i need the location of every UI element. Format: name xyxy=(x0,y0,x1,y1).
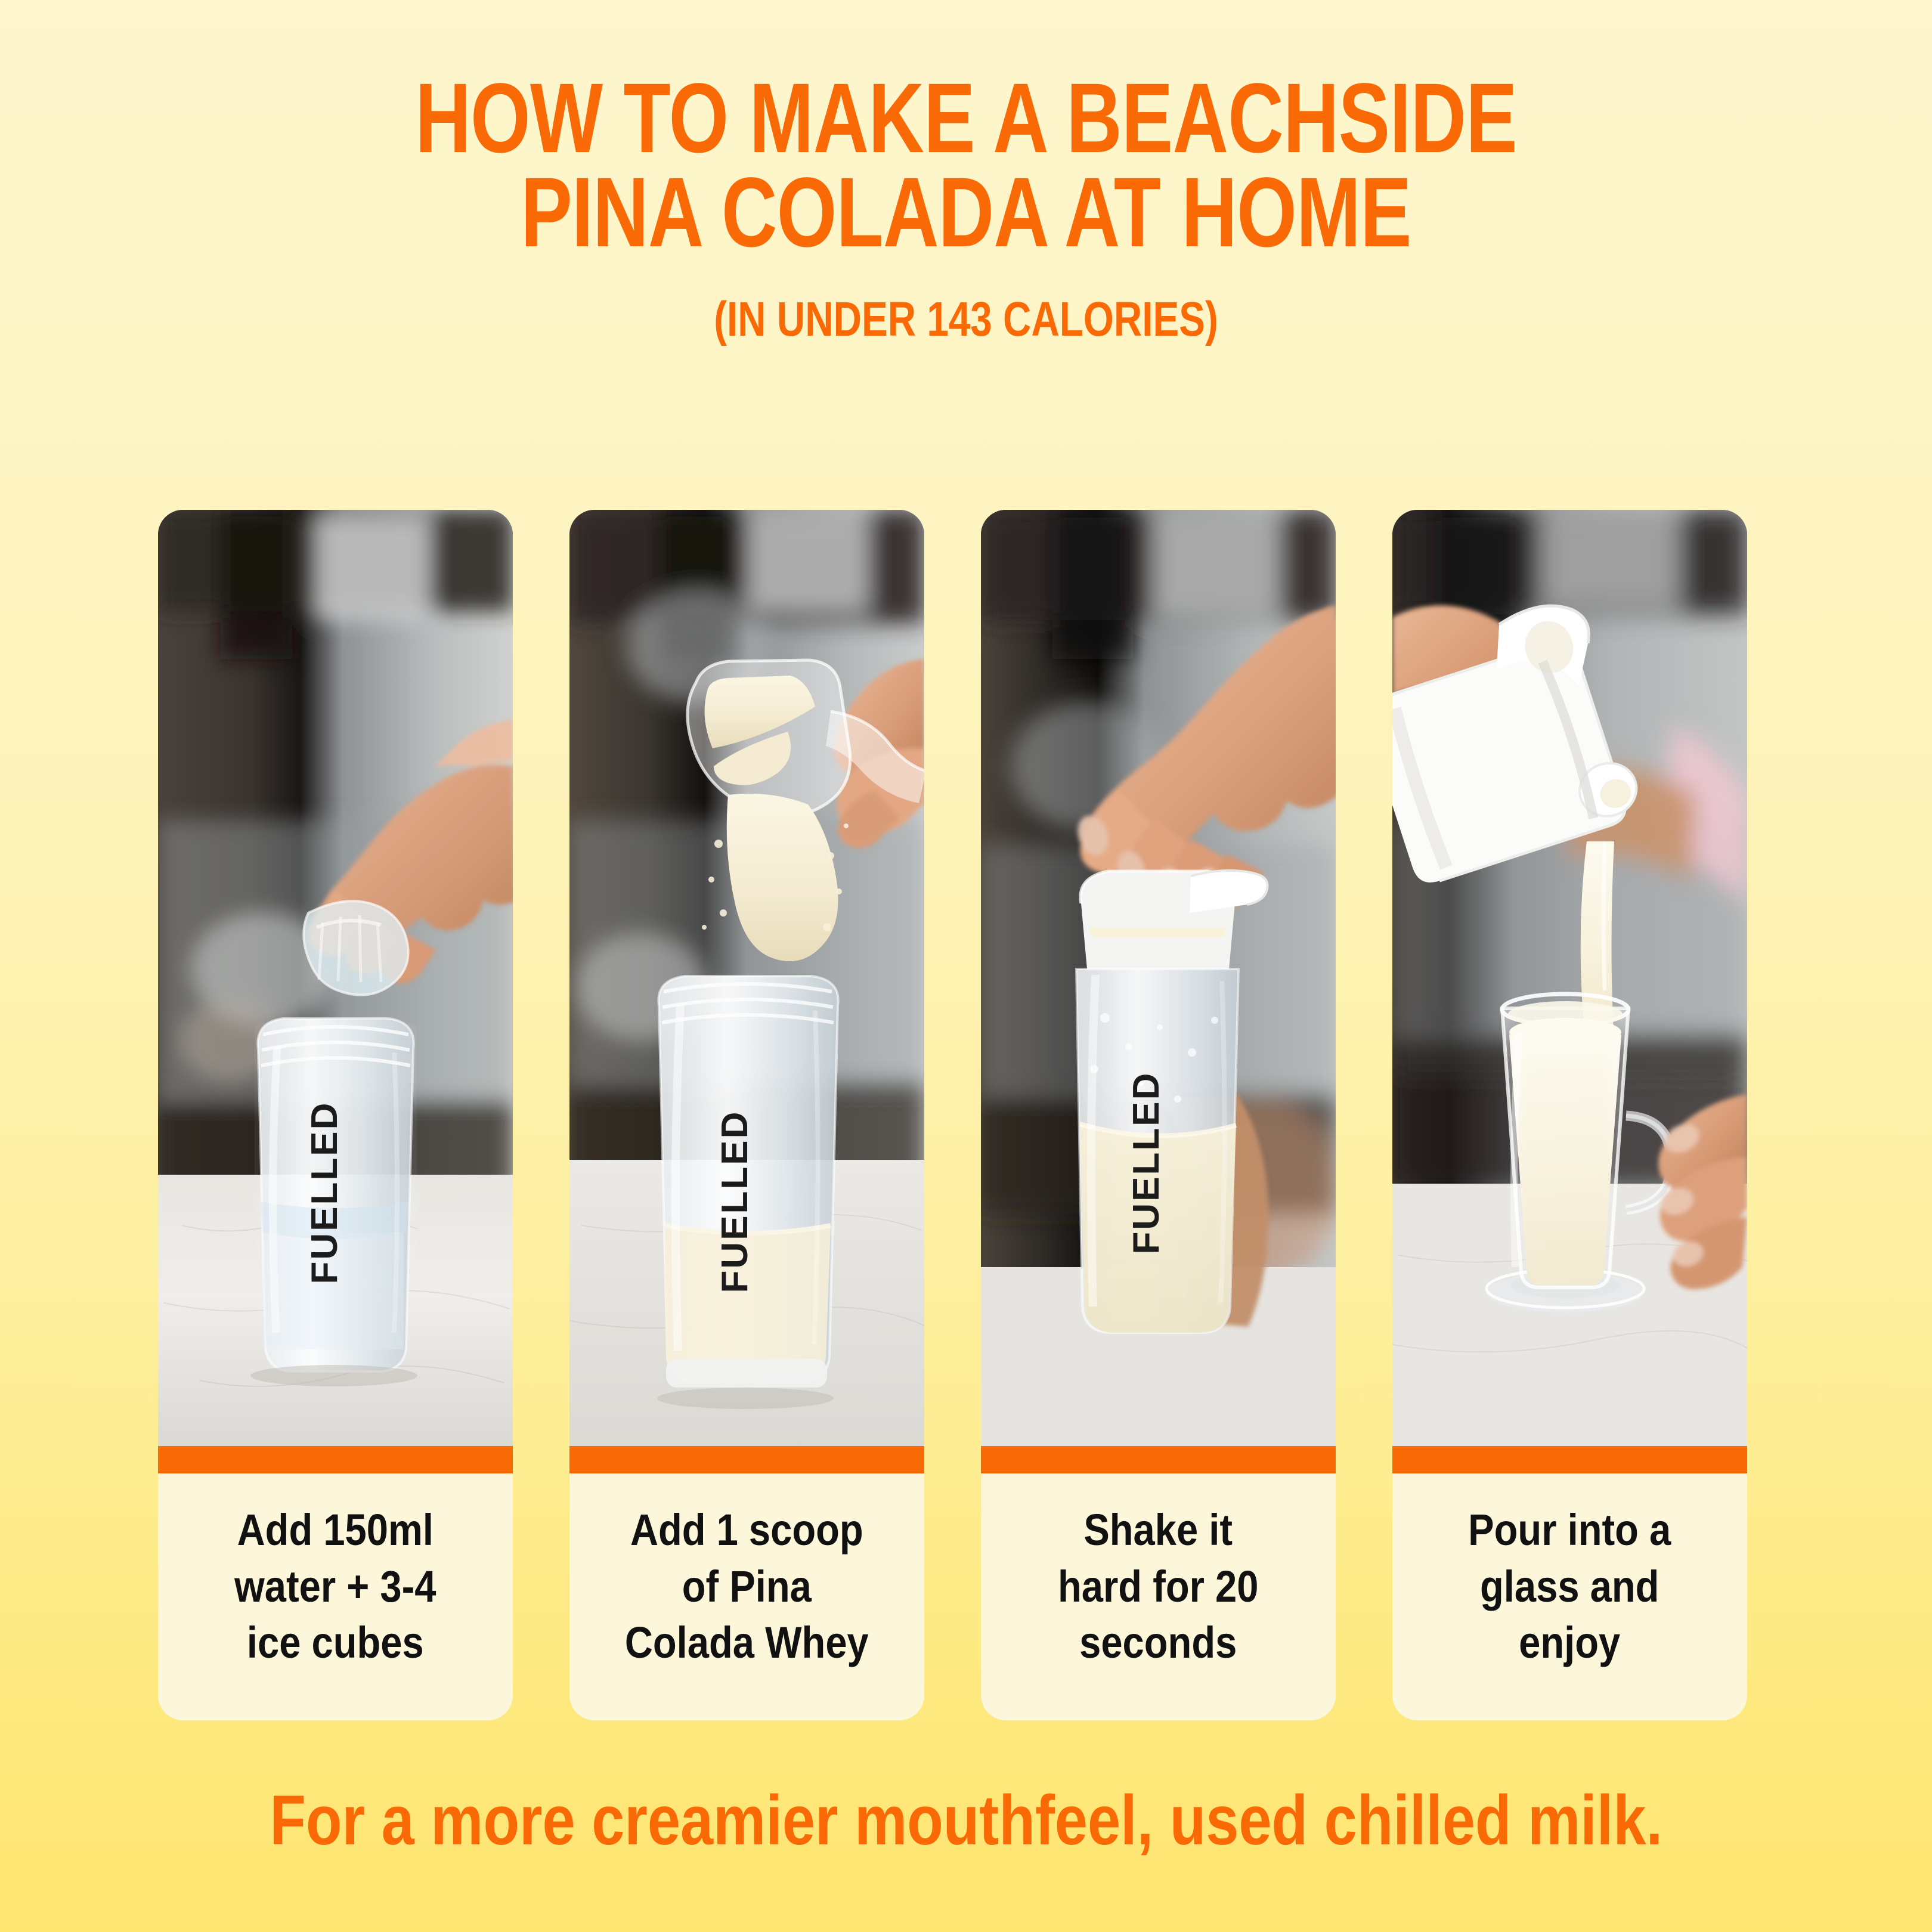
page-subtitle: (IN UNDER 143 CALORIES) xyxy=(193,292,1739,348)
shaker-brand-label: FUELLED xyxy=(714,1110,756,1293)
step-card-1[interactable]: FUELLED Add 150ml water + 3-4 ice cubes xyxy=(158,510,513,1720)
step-caption-text-2: Add 1 scoop of Pina Colada Whey xyxy=(625,1502,869,1671)
accent-bar-1 xyxy=(158,1446,513,1473)
step-card-2[interactable]: FUELLED Add 1 scoop of Pina Colada Whey xyxy=(569,510,924,1720)
accent-bar-3 xyxy=(981,1446,1336,1473)
steps-grid: FUELLED Add 150ml water + 3-4 ice cubes xyxy=(158,510,1774,1720)
step-caption-4: Pour into a glass and enjoy xyxy=(1392,1473,1747,1720)
shaker-brand-label: FUELLED xyxy=(304,1101,345,1284)
step-caption-3: Shake it hard for 20 seconds xyxy=(981,1473,1336,1720)
accent-bar-2 xyxy=(569,1446,924,1473)
step-photo-4 xyxy=(1392,510,1747,1446)
step-caption-1: Add 150ml water + 3-4 ice cubes xyxy=(158,1473,513,1720)
step-caption-text-3: Shake it hard for 20 seconds xyxy=(1058,1502,1259,1671)
step-card-4[interactable]: Pour into a glass and enjoy xyxy=(1392,510,1747,1720)
header: HOW TO MAKE A BEACHSIDE PINA COLADA AT H… xyxy=(0,0,1932,348)
shaker-brand-label: FUELLED xyxy=(1126,1072,1167,1255)
step-caption-2: Add 1 scoop of Pina Colada Whey xyxy=(569,1473,924,1720)
title-line-2: PINA COLADA AT HOME xyxy=(212,166,1719,260)
footer: For a more creamier mouthfeel, used chil… xyxy=(0,1780,1932,1861)
footer-tip: For a more creamier mouthfeel, used chil… xyxy=(270,1780,1662,1861)
step-card-3[interactable]: FUELLED Shake it hard for 20 seconds xyxy=(981,510,1336,1720)
step-caption-text-1: Add 150ml water + 3-4 ice cubes xyxy=(234,1502,436,1671)
step-photo-1: FUELLED xyxy=(158,510,513,1446)
step-photo-3: FUELLED xyxy=(981,510,1336,1446)
title-line-1: HOW TO MAKE A BEACHSIDE xyxy=(212,72,1719,166)
step-caption-text-4: Pour into a glass and enjoy xyxy=(1468,1502,1671,1671)
page-title: HOW TO MAKE A BEACHSIDE PINA COLADA AT H… xyxy=(212,72,1719,259)
accent-bar-4 xyxy=(1392,1446,1747,1473)
step-photo-2: FUELLED xyxy=(569,510,924,1446)
